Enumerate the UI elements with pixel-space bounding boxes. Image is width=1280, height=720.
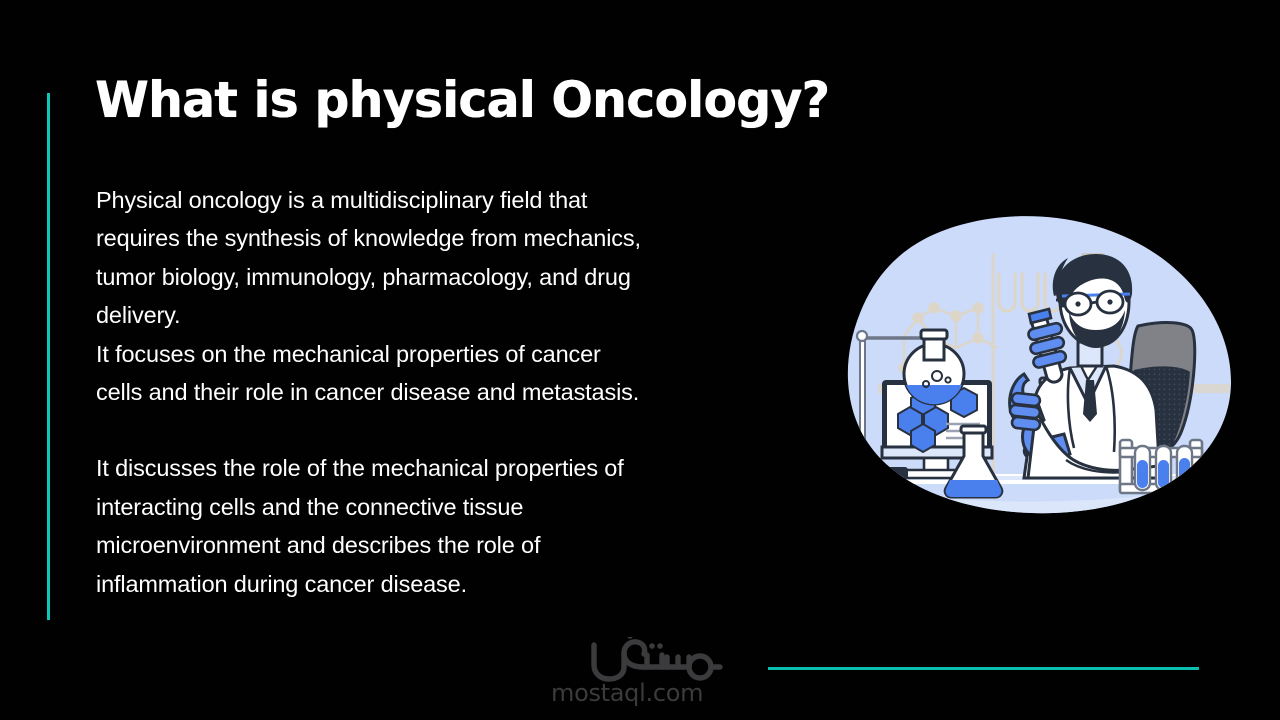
slide-canvas: What is physical Oncology? Physical onco… — [0, 0, 1280, 720]
body-line: inflammation during cancer disease. — [96, 565, 826, 603]
paragraph-gap — [96, 411, 826, 449]
page-title: What is physical Oncology? — [95, 72, 852, 128]
body-line: It discusses the role of the mechanical … — [96, 449, 826, 487]
body-line: Physical oncology is a multidisciplinary… — [96, 181, 826, 219]
body-line: microenvironment and describes the role … — [96, 526, 826, 564]
body-line: tumor biology, immunology, pharmacology,… — [96, 258, 826, 296]
mostaql-arabic-logo-icon — [548, 637, 728, 683]
left-accent-rule — [47, 93, 50, 620]
body-copy: Physical oncology is a multidisciplinary… — [96, 181, 826, 603]
body-line: interacting cells and the connective tis… — [96, 488, 826, 526]
body-line: cells and their role in cancer disease a… — [96, 373, 826, 411]
test-tube-rack — [1120, 440, 1202, 493]
body-line: delivery. — [96, 296, 826, 334]
laboratory-scientist-illustration — [838, 208, 1238, 520]
body-line: requires the synthesis of knowledge from… — [96, 219, 826, 257]
footer-rule — [768, 667, 1199, 670]
body-line: It focuses on the mechanical properties … — [96, 335, 826, 373]
mostaql-wordmark: mostaql.com — [551, 679, 703, 707]
